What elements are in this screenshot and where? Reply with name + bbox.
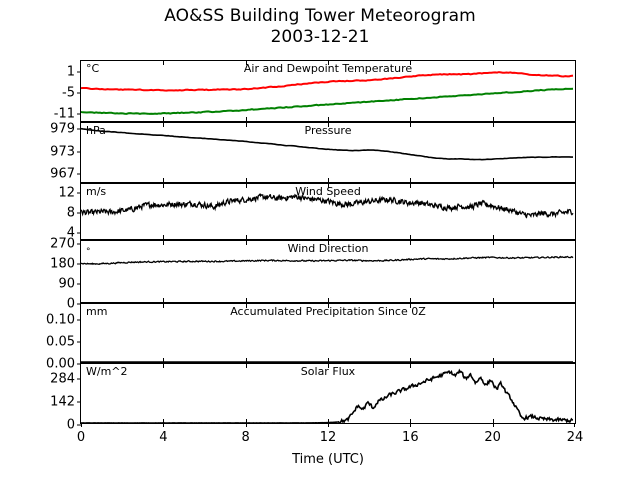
y-tick-label: 0 [5, 297, 75, 312]
x-tick-mark [328, 423, 329, 427]
x-tick-mark [163, 235, 164, 239]
figure-title: AO&SS Building Tower Meteorogram 2003-12… [0, 6, 640, 48]
panel-solar-flux: W/m^2 Solar Flux 284142004812162024 [80, 363, 576, 424]
x-tick-mark [246, 117, 247, 121]
y-tick-label: 0 [5, 418, 75, 433]
panel-pressure: hPa Pressure 979973967 [80, 122, 576, 183]
y-tick-label: 12 [5, 186, 75, 201]
x-tick-label: 8 [242, 430, 250, 445]
y-tick-mark [77, 71, 81, 72]
y-tick-mark [77, 244, 81, 245]
x-tick-mark [493, 178, 494, 182]
x-tick-mark [493, 423, 494, 427]
y-tick-mark [77, 401, 81, 402]
x-tick-mark [163, 298, 164, 302]
x-tick-mark [163, 423, 164, 427]
x-tick-mark [328, 178, 329, 182]
x-tick-mark [328, 123, 329, 127]
x-tick-mark [328, 235, 329, 239]
x-tick-mark [328, 61, 329, 65]
y-tick-label: 180 [5, 257, 75, 272]
x-tick-mark [163, 117, 164, 121]
y-tick-mark [77, 114, 81, 115]
y-tick-label: -5 [5, 85, 75, 100]
panel-wind-direction: ° Wind Direction 270180900 [80, 240, 576, 303]
x-tick-mark [328, 184, 329, 188]
x-tick-mark [328, 358, 329, 362]
x-tick-mark [163, 304, 164, 308]
y-tick-label: 142 [5, 394, 75, 409]
x-tick-mark [246, 178, 247, 182]
panel-temperature: °C Air and Dewpoint Temperature 1-5-11 [80, 60, 576, 122]
x-tick-mark [246, 123, 247, 127]
x-tick-mark [493, 241, 494, 245]
x-tick-mark [163, 364, 164, 368]
x-tick-mark [574, 423, 575, 427]
y-tick-label: 973 [5, 144, 75, 159]
x-tick-mark [493, 358, 494, 362]
figure-title-line-2: 2003-12-21 [0, 27, 640, 48]
x-tick-label: 20 [484, 430, 501, 445]
y-tick-mark [77, 284, 81, 285]
y-tick-mark [77, 174, 81, 175]
y-tick-mark [77, 213, 81, 214]
x-tick-mark [246, 358, 247, 362]
x-tick-mark [328, 364, 329, 368]
panel-precipitation: mm Accumulated Precipitation Since 0Z 0.… [80, 303, 576, 363]
y-tick-label: 8 [5, 206, 75, 221]
x-tick-mark [410, 184, 411, 188]
x-tick-mark [493, 117, 494, 121]
x-tick-mark [493, 364, 494, 368]
x-tick-mark [493, 298, 494, 302]
y-tick-label: 967 [5, 167, 75, 182]
x-tick-mark [493, 184, 494, 188]
y-tick-mark [77, 264, 81, 265]
x-tick-mark [163, 61, 164, 65]
x-tick-label: 4 [159, 430, 167, 445]
y-tick-label: 979 [5, 121, 75, 136]
x-tick-mark [410, 61, 411, 65]
meteorogram-figure: AO&SS Building Tower Meteorogram 2003-12… [0, 0, 640, 480]
x-tick-mark [410, 298, 411, 302]
x-tick-mark [81, 423, 82, 427]
x-tick-mark [410, 304, 411, 308]
x-tick-mark [410, 423, 411, 427]
x-tick-mark [410, 235, 411, 239]
x-tick-mark [493, 304, 494, 308]
y-tick-mark [77, 92, 81, 93]
x-tick-mark [246, 423, 247, 427]
y-tick-label: -11 [5, 107, 75, 122]
y-tick-mark [77, 233, 81, 234]
x-tick-mark [328, 117, 329, 121]
y-tick-label: 1 [5, 64, 75, 79]
x-tick-label: 12 [320, 430, 337, 445]
x-tick-mark [410, 364, 411, 368]
y-tick-label: 284 [5, 371, 75, 386]
x-tick-mark [246, 298, 247, 302]
x-tick-mark [328, 298, 329, 302]
x-tick-mark [246, 364, 247, 368]
x-tick-mark [163, 123, 164, 127]
x-axis-label: Time (UTC) [80, 452, 576, 467]
y-tick-label: 0.05 [5, 334, 75, 349]
x-tick-mark [493, 235, 494, 239]
x-tick-mark [246, 235, 247, 239]
y-tick-label: 270 [5, 237, 75, 252]
x-tick-mark [493, 123, 494, 127]
x-tick-mark [410, 358, 411, 362]
y-tick-label: 0.10 [5, 312, 75, 327]
y-tick-mark [77, 341, 81, 342]
y-tick-mark [77, 378, 81, 379]
x-tick-mark [246, 304, 247, 308]
y-tick-label: 90 [5, 277, 75, 292]
x-tick-mark [163, 178, 164, 182]
x-tick-mark [410, 117, 411, 121]
x-tick-mark [410, 123, 411, 127]
panel-wind-speed: m/s Wind Speed 1284 [80, 183, 576, 240]
x-tick-mark [328, 304, 329, 308]
x-tick-mark [246, 61, 247, 65]
x-tick-mark [410, 241, 411, 245]
y-tick-mark [77, 193, 81, 194]
x-tick-label: 0 [77, 430, 85, 445]
y-tick-mark [77, 151, 81, 152]
x-tick-label: 24 [567, 430, 584, 445]
x-tick-mark [246, 241, 247, 245]
figure-title-line-1: AO&SS Building Tower Meteorogram [0, 6, 640, 27]
x-tick-mark [163, 184, 164, 188]
x-tick-mark [163, 358, 164, 362]
x-tick-mark [493, 61, 494, 65]
y-tick-mark [77, 319, 81, 320]
x-tick-mark [163, 241, 164, 245]
y-tick-label: 0.00 [5, 357, 75, 372]
x-tick-mark [410, 178, 411, 182]
x-tick-mark [328, 241, 329, 245]
x-tick-label: 16 [402, 430, 419, 445]
x-tick-mark [246, 184, 247, 188]
y-tick-mark [77, 128, 81, 129]
